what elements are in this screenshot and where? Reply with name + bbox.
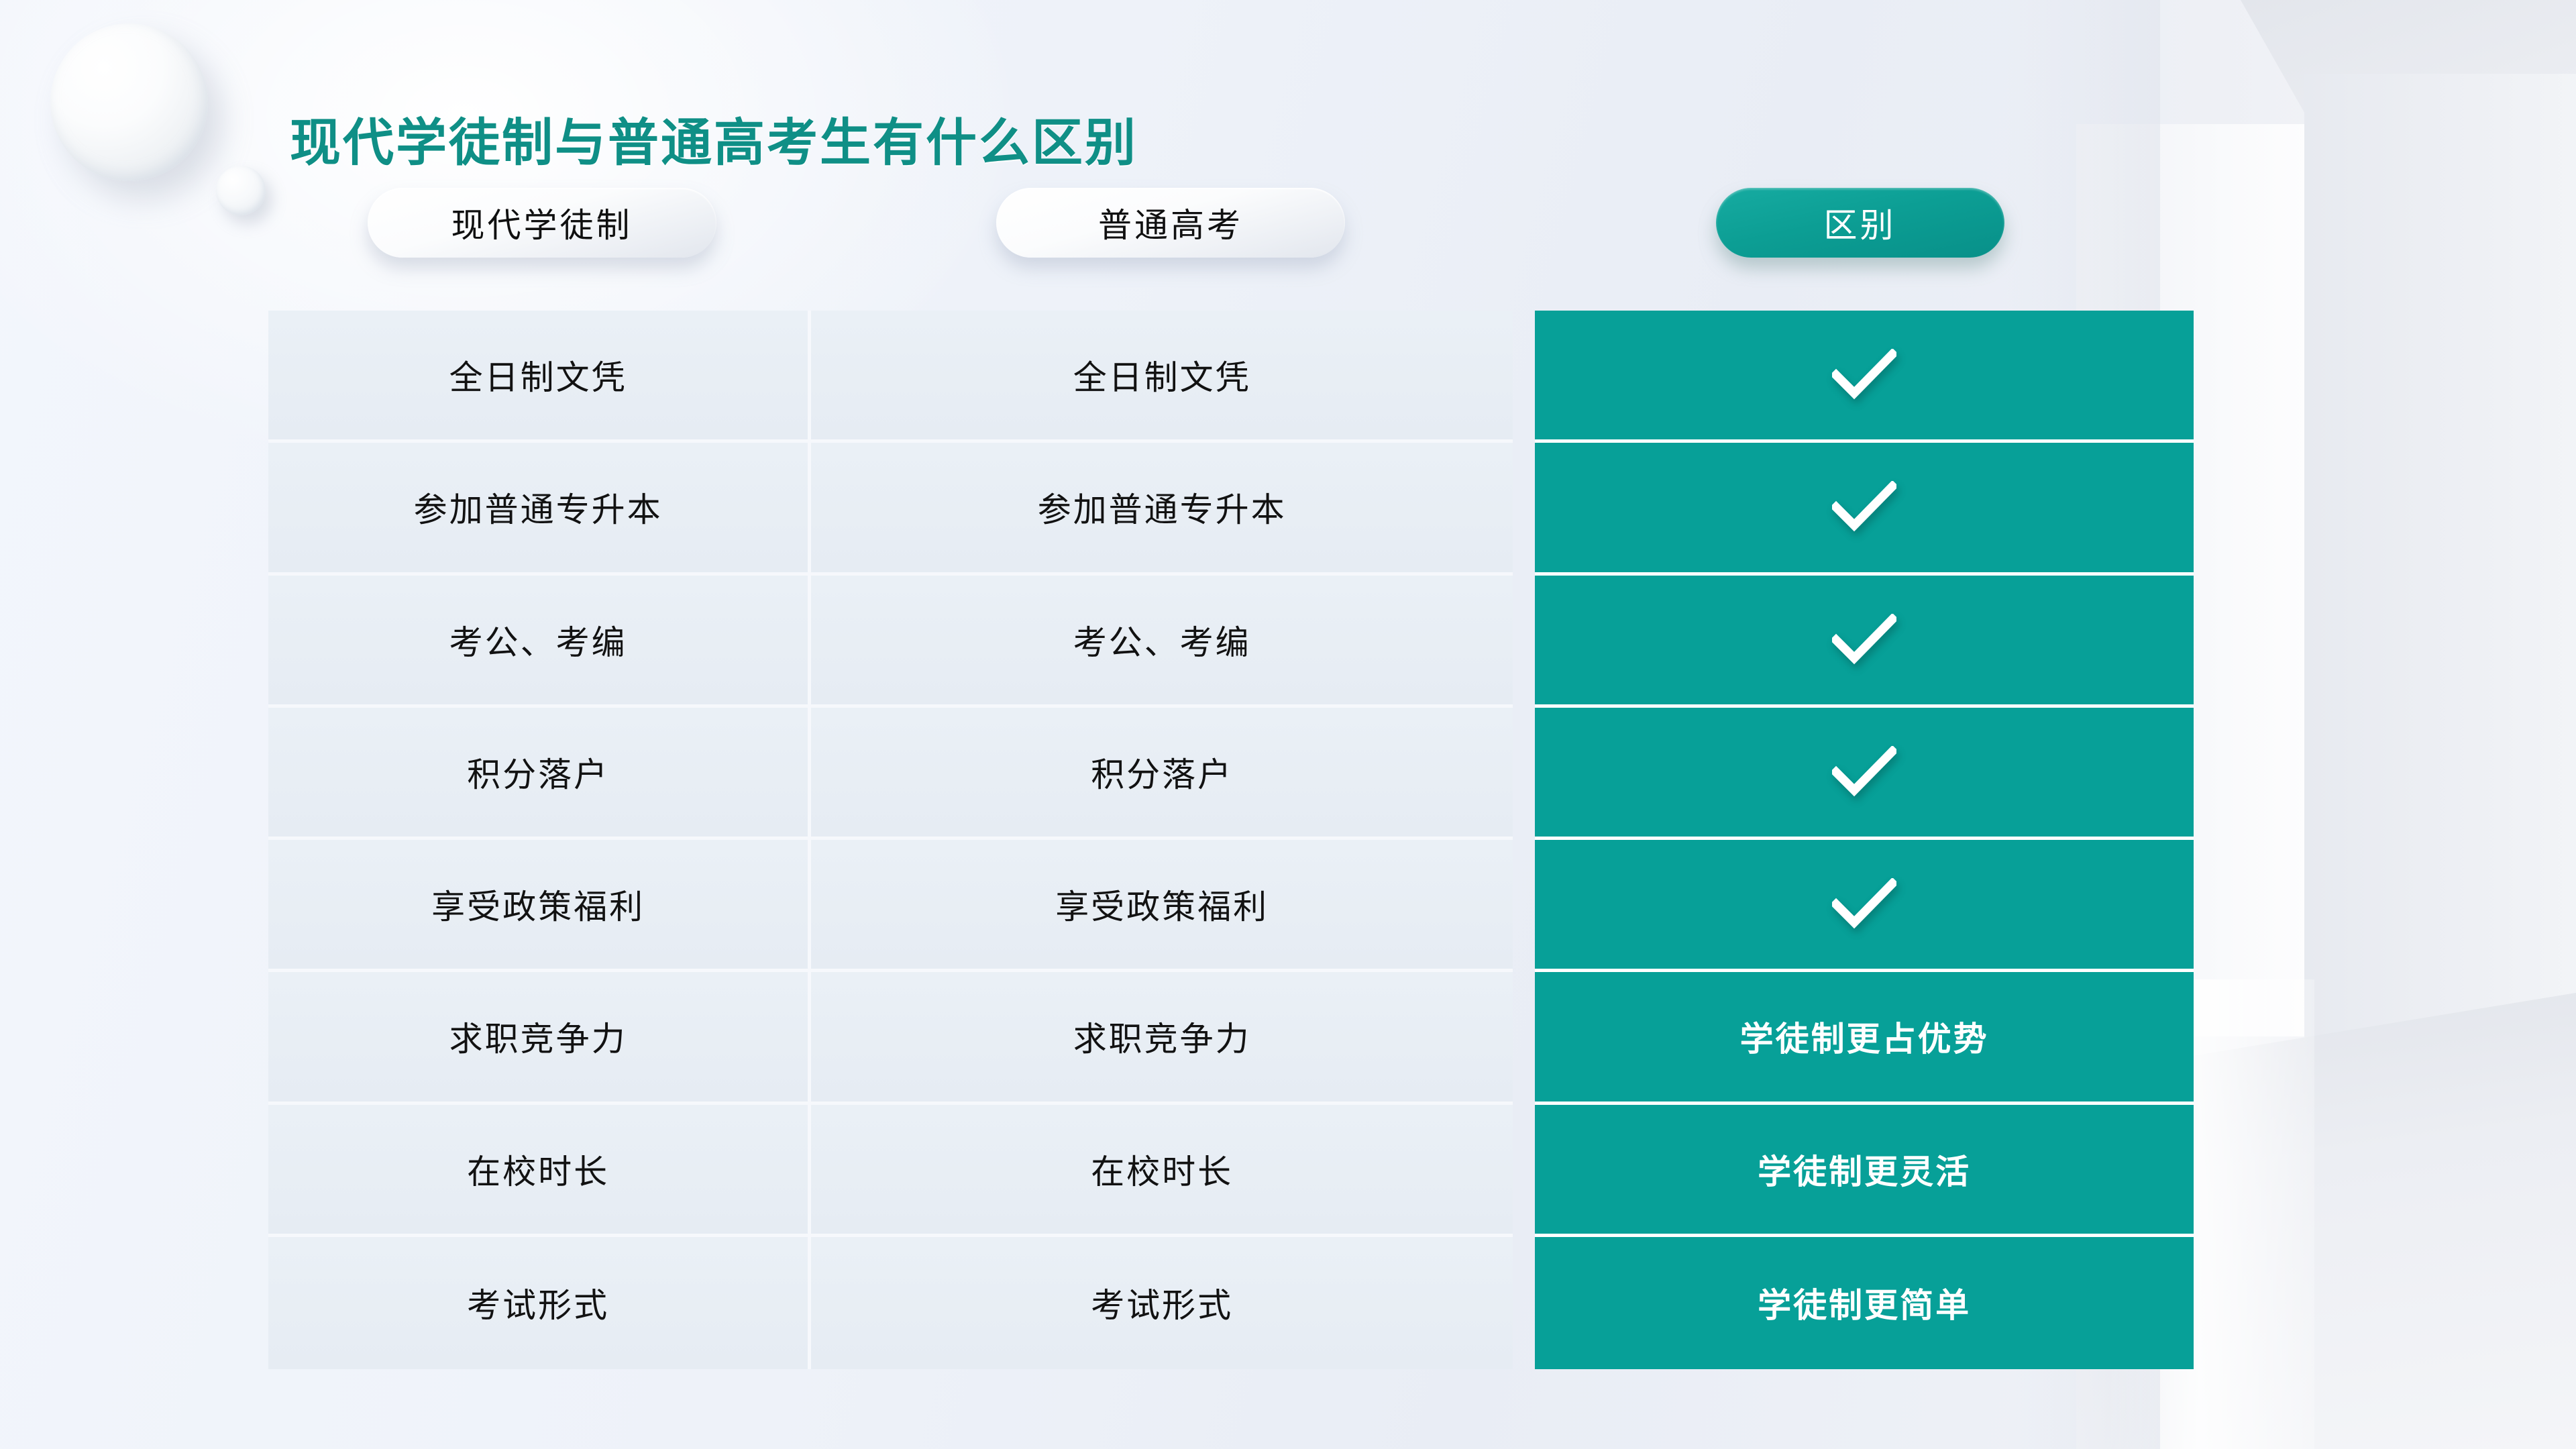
header-pill-difference: 区别	[1716, 188, 2004, 258]
cell-apprenticeship: 考试形式	[268, 1237, 811, 1369]
column-header-difference: 区别	[1526, 188, 2194, 260]
table-row: 积分落户 积分落户	[268, 708, 2194, 840]
cell-gaokao: 考公、考编	[811, 576, 1513, 708]
table-row: 在校时长 在校时长 学徒制更灵活	[268, 1105, 2194, 1237]
cell-apprenticeship: 积分落户	[268, 708, 811, 840]
table-row: 全日制文凭 全日制文凭	[268, 311, 2194, 443]
check-icon	[1832, 481, 1896, 533]
header-pill-apprenticeship: 现代学徒制	[368, 188, 716, 258]
cell-apprenticeship: 在校时长	[268, 1105, 811, 1237]
table-row: 享受政策福利 享受政策福利	[268, 840, 2194, 972]
table-header-row: 现代学徒制 普通高考 区别	[268, 188, 2194, 260]
column-header-gaokao: 普通高考	[815, 188, 1526, 260]
table-row: 考试形式 考试形式 学徒制更简单	[268, 1237, 2194, 1369]
cell-difference: 学徒制更占优势	[1535, 972, 2194, 1104]
cell-gaokao: 积分落户	[811, 708, 1513, 840]
check-icon	[1832, 746, 1896, 798]
cell-gaokao: 全日制文凭	[811, 311, 1513, 443]
table-row: 求职竞争力 求职竞争力 学徒制更占优势	[268, 972, 2194, 1104]
cell-apprenticeship: 考公、考编	[268, 576, 811, 708]
check-icon	[1832, 878, 1896, 930]
cell-gaokao: 求职竞争力	[811, 972, 1513, 1104]
decorative-sphere-small	[216, 166, 266, 215]
cell-apprenticeship: 全日制文凭	[268, 311, 811, 443]
header-pill-gaokao: 普通高考	[996, 188, 1345, 258]
table-row: 考公、考编 考公、考编	[268, 576, 2194, 708]
cell-apprenticeship: 求职竞争力	[268, 972, 811, 1104]
cell-difference	[1535, 840, 2194, 972]
check-icon	[1832, 614, 1896, 666]
cell-difference	[1535, 443, 2194, 575]
room-wall-right	[2304, 74, 2576, 1120]
cell-gaokao: 在校时长	[811, 1105, 1513, 1237]
cell-difference: 学徒制更灵活	[1535, 1105, 2194, 1237]
cell-difference	[1535, 576, 2194, 708]
cell-gaokao: 享受政策福利	[811, 840, 1513, 972]
cell-difference	[1535, 311, 2194, 443]
cell-gaokao: 考试形式	[811, 1237, 1513, 1369]
page-title: 现代学徒制与普通高考生有什么区别	[290, 101, 1138, 175]
cell-apprenticeship: 享受政策福利	[268, 840, 811, 972]
table-row: 参加普通专升本 参加普通专升本	[268, 443, 2194, 575]
cell-difference	[1535, 708, 2194, 840]
decorative-sphere-large	[50, 23, 208, 181]
cell-difference: 学徒制更简单	[1535, 1237, 2194, 1369]
cell-apprenticeship: 参加普通专升本	[268, 443, 811, 575]
cell-gaokao: 参加普通专升本	[811, 443, 1513, 575]
check-icon	[1832, 349, 1896, 401]
comparison-table: 全日制文凭 全日制文凭 参加普通专升本 参加普通专升本 考公、考编 考公、考编 …	[268, 311, 2194, 1369]
column-header-apprenticeship: 现代学徒制	[268, 188, 815, 260]
